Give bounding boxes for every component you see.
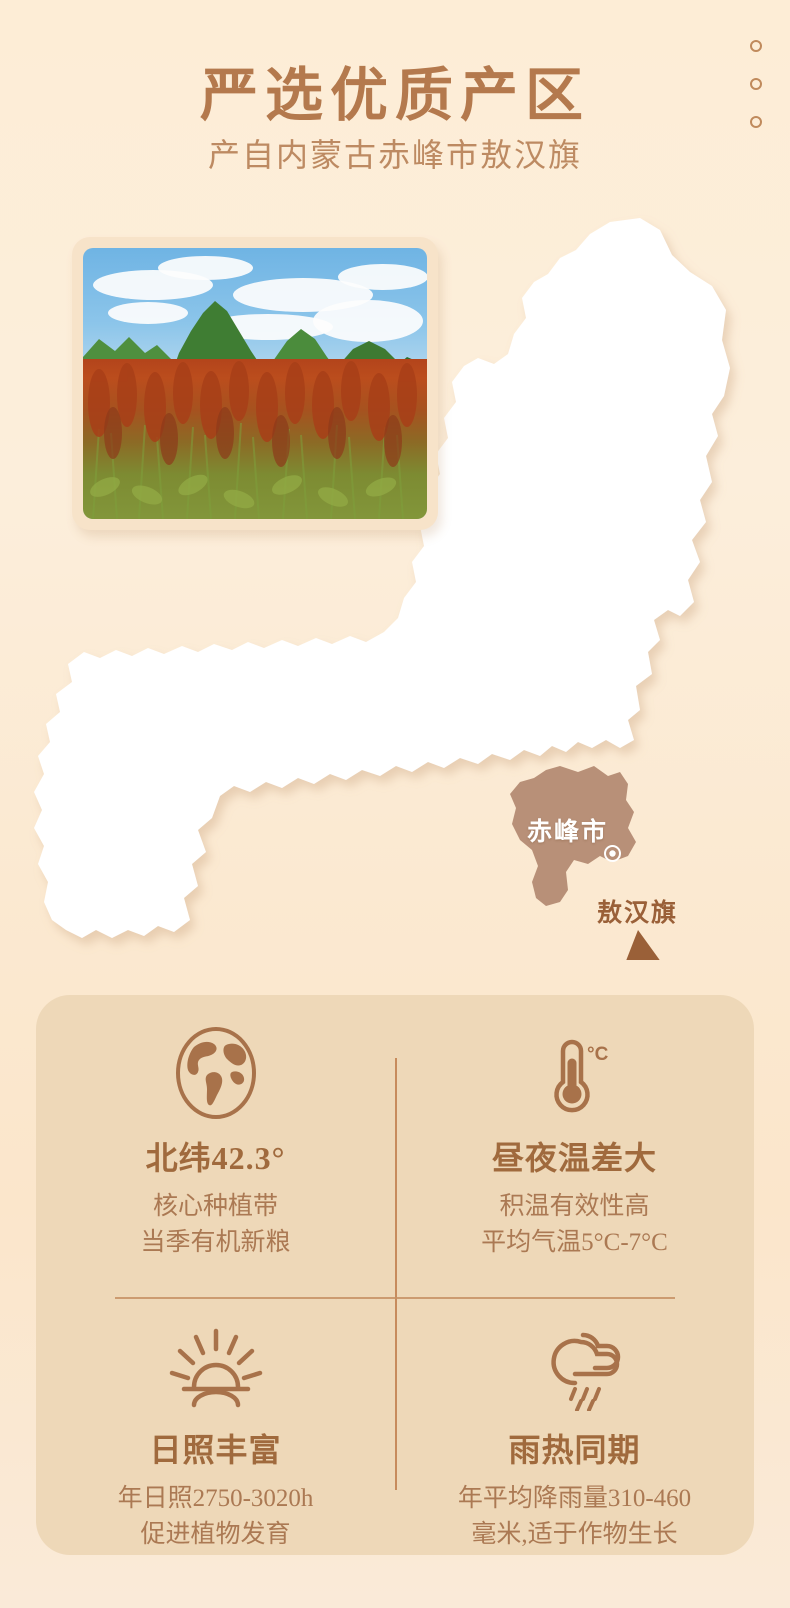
- map-county-label: 敖汉旗: [597, 893, 678, 929]
- info-desc-line-2: 促进植物发育: [36, 1517, 395, 1553]
- info-heading: 日照丰富: [36, 1425, 395, 1471]
- sunrise-icon: [36, 1315, 395, 1411]
- info-item-sunshine: 日照丰富 年日照2750-3020h 促进植物发育: [36, 1315, 395, 1552]
- info-item-rainfall: 雨热同期 年平均降雨量310-460 毫米,适于作物生长: [395, 1315, 754, 1552]
- decorative-circles: [750, 40, 762, 154]
- page-header: 严选优质产区 产自内蒙古赤峰市敖汉旗: [0, 0, 790, 200]
- up-arrow-icon: [624, 930, 664, 960]
- info-desc-line-1: 积温有效性高: [395, 1189, 754, 1225]
- svg-text:°C: °C: [587, 1044, 609, 1065]
- info-desc-line-2: 平均气温5°C-7°C: [395, 1225, 754, 1261]
- info-heading: 昼夜温差大: [395, 1133, 754, 1179]
- circle-dot-icon: [750, 78, 762, 90]
- info-desc-line-2: 当季有机新粮: [36, 1225, 395, 1261]
- info-item-latitude: 北纬42.3° 核心种植带 当季有机新粮: [36, 1023, 395, 1260]
- horizontal-divider: [115, 1297, 675, 1299]
- climate-info-card: 北纬42.3° 核心种植带 当季有机新粮 °C 昼夜温差大 积温有效性高 平均气…: [36, 995, 754, 1555]
- rain-cloud-icon: [395, 1315, 754, 1411]
- info-desc-line-1: 年日照2750-3020h: [36, 1481, 395, 1517]
- field-photo-card: [72, 237, 438, 530]
- map-marker-circle-icon: [604, 845, 621, 862]
- info-desc-line-2: 毫米,适于作物生长: [395, 1517, 754, 1553]
- thermometer-celsius-icon: °C: [395, 1023, 754, 1119]
- page-title: 严选优质产区: [0, 48, 790, 132]
- photo-sorghum-field: [83, 359, 427, 519]
- map-section: 赤峰市 敖汉旗 内蒙古 曾被联合国环境规划署 授予全球500佳环境奖: [0, 200, 790, 960]
- info-desc-line-1: 年平均降雨量310-460: [395, 1481, 754, 1517]
- circle-dot-icon: [750, 40, 762, 52]
- info-desc-line-1: 核心种植带: [36, 1189, 395, 1225]
- map-city-label: 赤峰市: [527, 812, 608, 848]
- info-heading: 北纬42.3°: [36, 1133, 395, 1179]
- info-heading: 雨热同期: [395, 1425, 754, 1471]
- circle-dot-icon: [750, 116, 762, 128]
- sorghum-field-photo: [83, 248, 427, 519]
- globe-icon: [36, 1023, 395, 1119]
- page-subtitle: 产自内蒙古赤峰市敖汉旗: [0, 130, 790, 176]
- info-item-temperature: °C 昼夜温差大 积温有效性高 平均气温5°C-7°C: [395, 1023, 754, 1260]
